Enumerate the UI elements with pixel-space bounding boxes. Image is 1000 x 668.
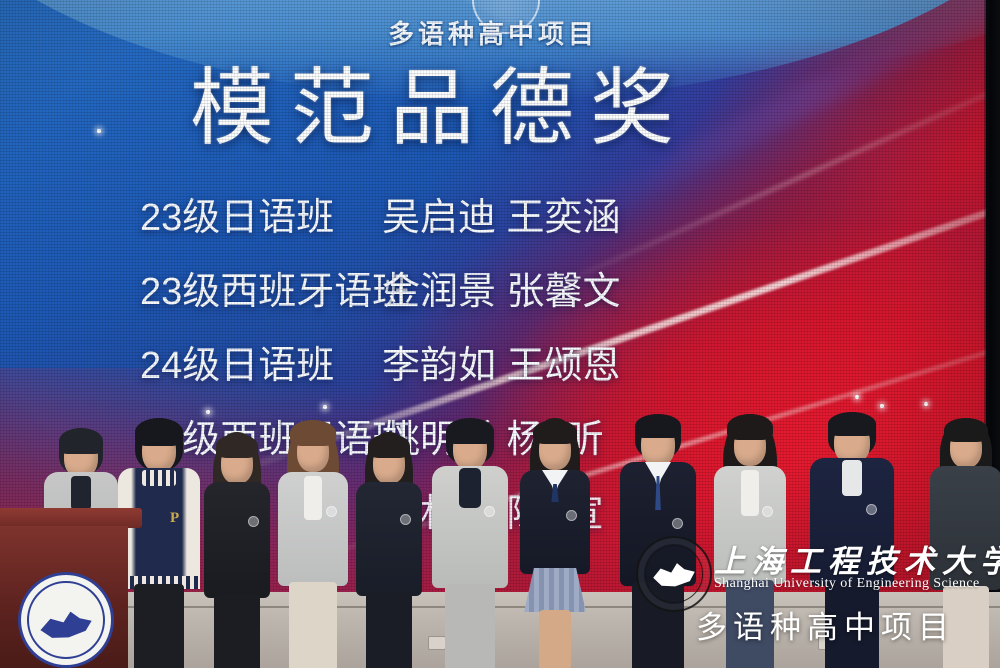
university-emblem-icon [18,572,114,668]
watermark-program-name: 多语种高中项目 [696,602,955,647]
lectern-top [0,508,142,528]
presentation-photo: 多语种高中项目 模范品德奖 23级日语班 吴启迪 王奕涵 23级西班牙语班 金润… [0,0,1000,668]
list-item [204,432,270,668]
watermark: 上海工程技术大学 Shanghai University of Engineer… [628,524,978,652]
university-seal-icon [636,536,712,612]
list-item [278,420,348,668]
watermark-university-name-en: Shanghai University of Engineering Scien… [714,576,980,592]
lectern [0,508,142,668]
list-item [520,418,590,668]
list-item [356,432,422,668]
list-item [432,418,508,668]
watermark-university-name-cn: 上海工程技术大学 [714,536,1000,581]
